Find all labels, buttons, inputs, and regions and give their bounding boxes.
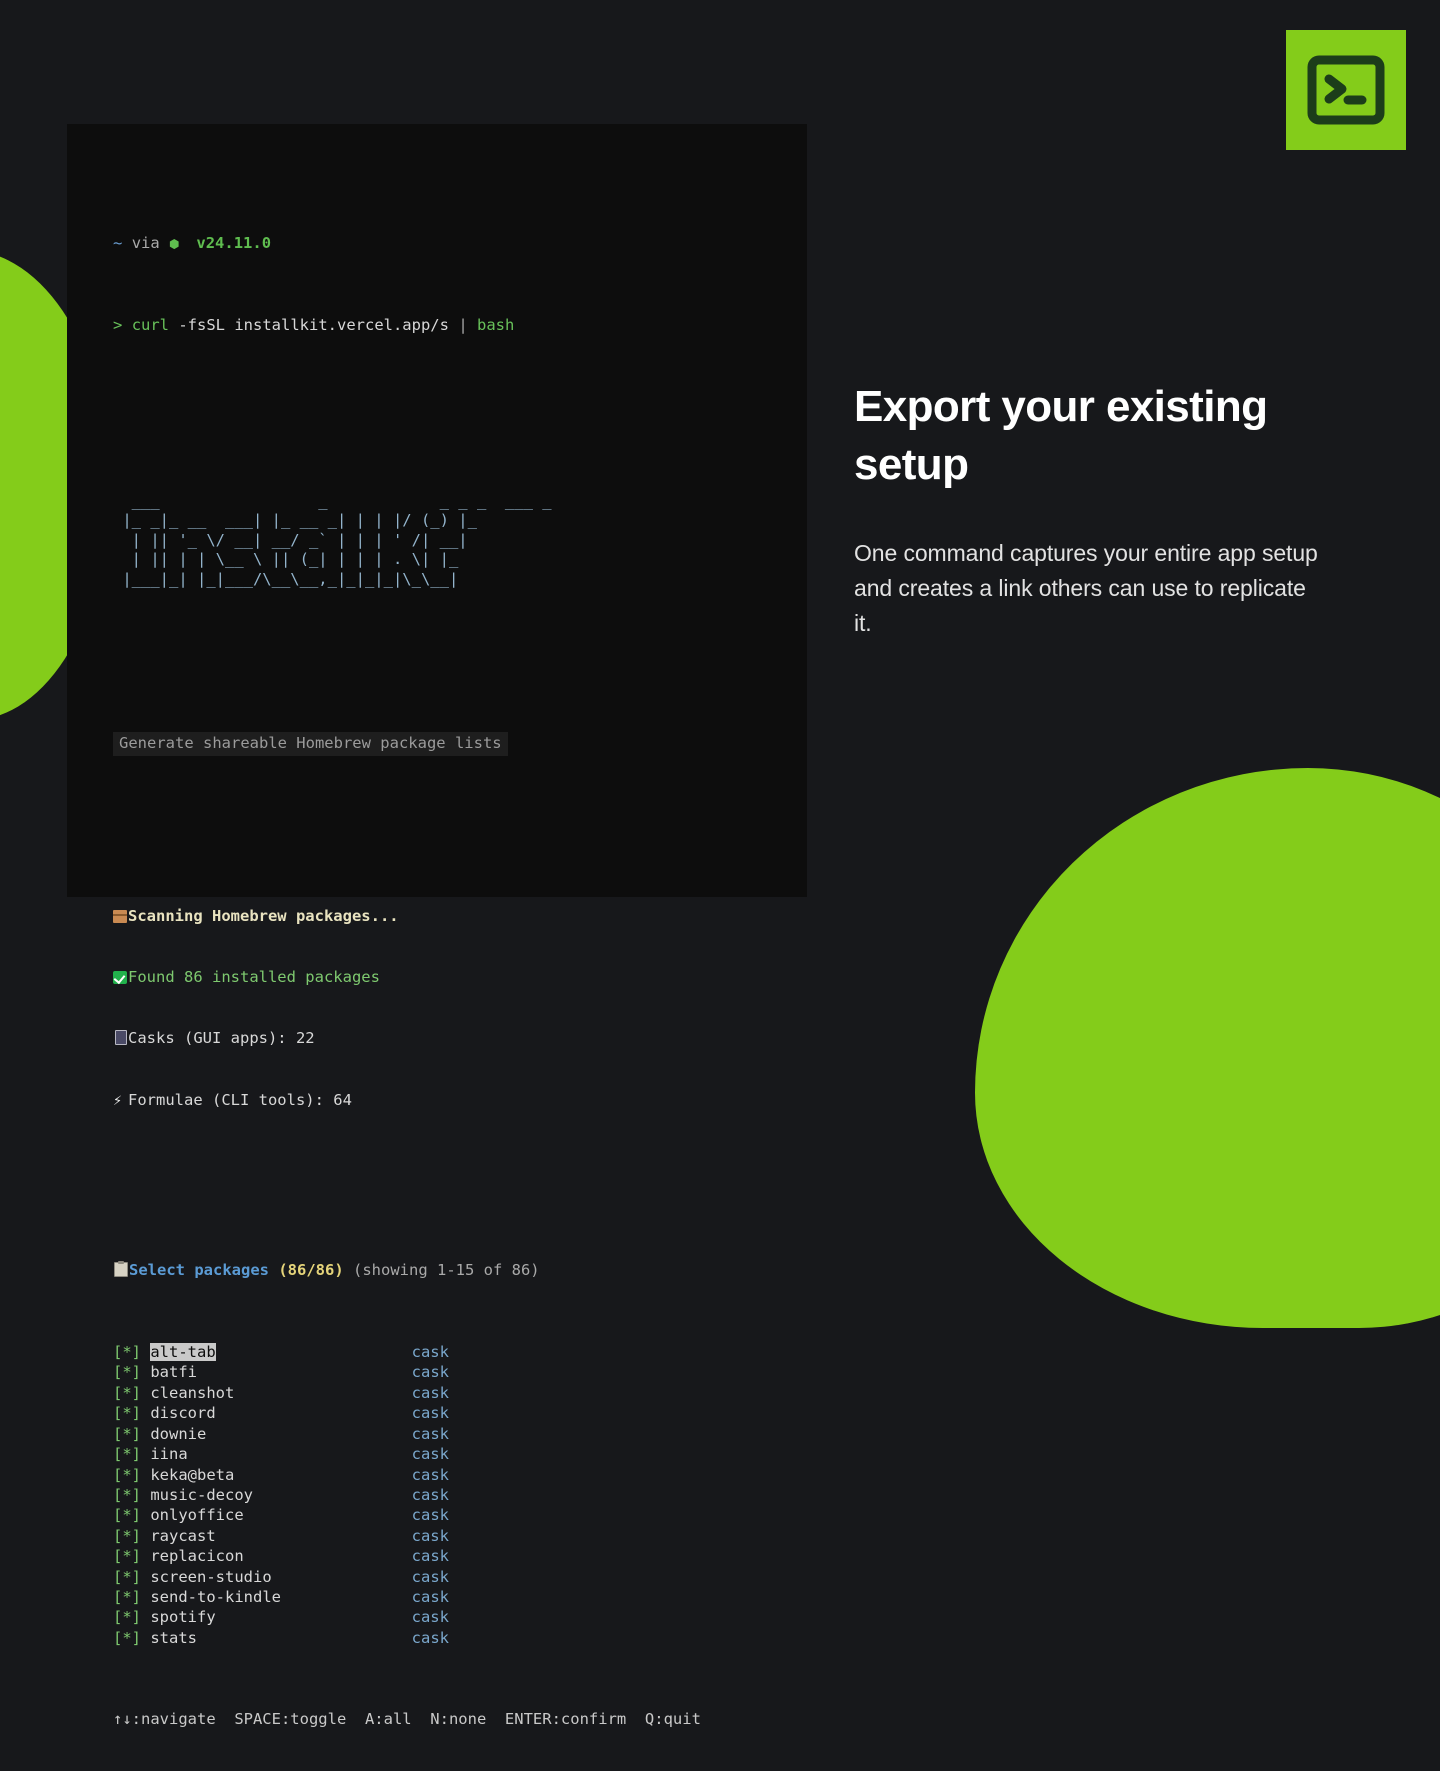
package-type: cask bbox=[412, 1629, 449, 1647]
package-row[interactable]: [*] screen-studio cask bbox=[113, 1567, 807, 1587]
command-args: -fsSL installkit.vercel.app/s bbox=[169, 316, 458, 334]
package-row[interactable]: [*] replacicon cask bbox=[113, 1546, 807, 1566]
select-packages-header: Select packages (86/86) (showing 1-15 of… bbox=[113, 1260, 807, 1280]
package-checkbox[interactable]: [*] bbox=[113, 1343, 141, 1361]
package-checkbox[interactable]: [*] bbox=[113, 1384, 141, 1402]
package-row[interactable]: [*] cleanshot cask bbox=[113, 1383, 807, 1403]
package-name[interactable]: screen-studio bbox=[150, 1568, 271, 1586]
package-type: cask bbox=[412, 1527, 449, 1545]
package-row[interactable]: [*] raycast cask bbox=[113, 1526, 807, 1546]
prompt-chevron: > bbox=[113, 316, 122, 334]
spacer bbox=[113, 396, 807, 430]
command-pipe: | bbox=[458, 316, 467, 334]
package-row[interactable]: [*] discord cask bbox=[113, 1403, 807, 1423]
package-name[interactable]: music-decoy bbox=[150, 1486, 253, 1504]
package-name[interactable]: onlyoffice bbox=[150, 1506, 243, 1524]
package-list[interactable]: [*] alt-tab cask[*] batfi cask[*] cleans… bbox=[113, 1342, 807, 1648]
package-row[interactable]: [*] music-decoy cask bbox=[113, 1485, 807, 1505]
prompt-path: ~ bbox=[113, 234, 122, 252]
package-name[interactable]: iina bbox=[150, 1445, 187, 1463]
marketing-panel: Export your existing setup One command c… bbox=[854, 378, 1324, 641]
status-line-formulae: Formulae (CLI tools): 64 bbox=[113, 1090, 807, 1110]
select-showing: (showing 1-15 of 86) bbox=[353, 1261, 540, 1279]
decorative-blob-bottom-right bbox=[975, 768, 1440, 1328]
page-title: Export your existing setup bbox=[854, 378, 1324, 494]
package-type: cask bbox=[412, 1404, 449, 1422]
package-type: cask bbox=[412, 1384, 449, 1402]
package-name[interactable]: batfi bbox=[150, 1363, 197, 1381]
package-checkbox[interactable]: [*] bbox=[113, 1425, 141, 1443]
status-line-casks: Casks (GUI apps): 22 bbox=[113, 1028, 807, 1048]
package-box-icon bbox=[113, 910, 127, 923]
select-label: Select packages bbox=[129, 1261, 269, 1279]
node-hexagon-icon bbox=[169, 236, 186, 250]
package-type: cask bbox=[412, 1506, 449, 1524]
package-row[interactable]: [*] stats cask bbox=[113, 1628, 807, 1648]
keybindings-bar: ↑↓:navigate SPACE:toggle A:all N:none EN… bbox=[113, 1709, 807, 1729]
package-row[interactable]: [*] iina cask bbox=[113, 1444, 807, 1464]
abacus-icon bbox=[115, 1030, 127, 1045]
tagline-row: Generate shareable Homebrew package list… bbox=[113, 732, 807, 755]
package-type: cask bbox=[412, 1486, 449, 1504]
tagline-text: Generate shareable Homebrew package list… bbox=[113, 732, 508, 755]
prompt-via: via bbox=[132, 234, 160, 252]
package-row[interactable]: [*] send-to-kindle cask bbox=[113, 1587, 807, 1607]
package-row[interactable]: [*] alt-tab cask bbox=[113, 1342, 807, 1362]
package-checkbox[interactable]: [*] bbox=[113, 1568, 141, 1586]
terminal-prompt-icon bbox=[1307, 55, 1385, 125]
terminal-prompt-line: ~ via v24.11.0 bbox=[113, 233, 807, 253]
package-row[interactable]: [*] onlyoffice cask bbox=[113, 1505, 807, 1525]
package-type: cask bbox=[412, 1568, 449, 1586]
package-checkbox[interactable]: [*] bbox=[113, 1506, 141, 1524]
package-type: cask bbox=[412, 1588, 449, 1606]
prompt-version: v24.11.0 bbox=[196, 234, 271, 252]
app-logo bbox=[1286, 30, 1406, 150]
package-name[interactable]: replacicon bbox=[150, 1547, 243, 1565]
package-name[interactable]: spotify bbox=[150, 1608, 215, 1626]
package-checkbox[interactable]: [*] bbox=[113, 1608, 141, 1626]
select-count: (86/86) bbox=[278, 1261, 343, 1279]
package-name[interactable]: alt-tab bbox=[150, 1343, 215, 1361]
package-checkbox[interactable]: [*] bbox=[113, 1486, 141, 1504]
clipboard-icon bbox=[114, 1262, 128, 1277]
package-name[interactable]: raycast bbox=[150, 1527, 215, 1545]
package-type: cask bbox=[412, 1547, 449, 1565]
package-name[interactable]: discord bbox=[150, 1404, 215, 1422]
package-name[interactable]: cleanshot bbox=[150, 1384, 234, 1402]
package-checkbox[interactable]: [*] bbox=[113, 1445, 141, 1463]
ascii-art-banner: ___ _ _ _ _ ___ _ |_ _|_ __ ___| |_ __ _… bbox=[113, 492, 807, 590]
status-line-scanning: Scanning Homebrew packages... bbox=[113, 906, 807, 926]
package-type: cask bbox=[412, 1363, 449, 1381]
green-check-icon bbox=[113, 971, 127, 984]
package-checkbox[interactable]: [*] bbox=[113, 1404, 141, 1422]
spacer bbox=[113, 817, 807, 845]
package-checkbox[interactable]: [*] bbox=[113, 1527, 141, 1545]
package-checkbox[interactable]: [*] bbox=[113, 1629, 141, 1647]
package-checkbox[interactable]: [*] bbox=[113, 1588, 141, 1606]
package-type: cask bbox=[412, 1445, 449, 1463]
package-type: cask bbox=[412, 1466, 449, 1484]
package-row[interactable]: [*] downie cask bbox=[113, 1424, 807, 1444]
status-line-found: Found 86 installed packages bbox=[113, 967, 807, 987]
package-name[interactable]: send-to-kindle bbox=[150, 1588, 281, 1606]
package-name[interactable]: keka@beta bbox=[150, 1466, 234, 1484]
package-name[interactable]: downie bbox=[150, 1425, 206, 1443]
page-subtext: One command captures your entire app set… bbox=[854, 536, 1324, 641]
command-curl: curl bbox=[132, 316, 169, 334]
package-type: cask bbox=[412, 1425, 449, 1443]
package-checkbox[interactable]: [*] bbox=[113, 1547, 141, 1565]
package-checkbox[interactable]: [*] bbox=[113, 1466, 141, 1484]
terminal-window[interactable]: ~ via v24.11.0 > curl -fsSL installkit.v… bbox=[67, 124, 807, 897]
package-row[interactable]: [*] spotify cask bbox=[113, 1607, 807, 1627]
package-type: cask bbox=[412, 1343, 449, 1361]
spacer bbox=[113, 1171, 807, 1199]
package-checkbox[interactable]: [*] bbox=[113, 1363, 141, 1381]
command-bash: bash bbox=[468, 316, 515, 334]
package-row[interactable]: [*] keka@beta cask bbox=[113, 1465, 807, 1485]
package-type: cask bbox=[412, 1608, 449, 1626]
bolt-icon bbox=[113, 1094, 127, 1107]
terminal-command-line: > curl -fsSL installkit.vercel.app/s | b… bbox=[113, 315, 807, 335]
package-name[interactable]: stats bbox=[150, 1629, 197, 1647]
spacer bbox=[113, 651, 807, 671]
package-row[interactable]: [*] batfi cask bbox=[113, 1362, 807, 1382]
